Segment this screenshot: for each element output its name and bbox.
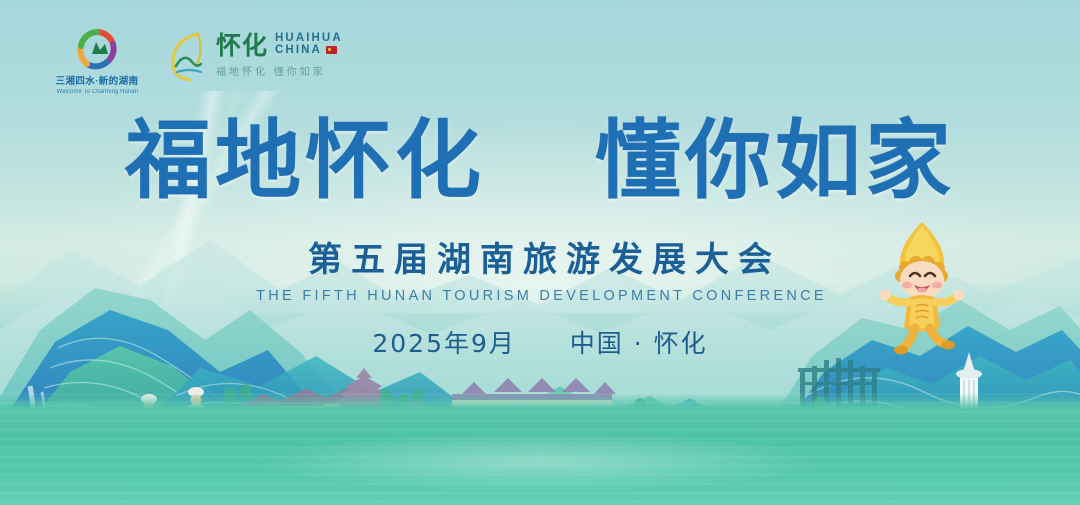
huaihua-china-logo: 怀化 HUAIHUA CHINA 福地怀化 懂你如家 [168,28,343,82]
hunan-logo-chinese: 三湘四水·新的湖南 [56,73,139,87]
conference-poster: 三湘四水·新的湖南 Welcome To Charming Hunan 怀化 H… [0,0,1080,505]
page-title: 福地怀化 懂你如家 [0,118,1080,204]
huaihua-leaf-icon [168,28,208,82]
china-flag-icon [326,46,337,54]
conference-name-chinese: 第五届湖南旅游发展大会 [0,243,1080,277]
huaihua-logo-english-1: HUAIHUA [275,32,343,44]
headline-part-2: 懂你如家 [595,111,955,211]
logo-bar: 三湘四水·新的湖南 Welcome To Charming Hunan 怀化 H… [52,28,343,95]
event-location: 中国 · 怀化 [570,329,708,358]
conference-name-english: THE FIFTH HUNAN TOURISM DEVELOPMENT CONF… [0,288,1080,304]
hunan-swirl-icon [66,28,128,70]
event-date: 2025年9月 [372,329,516,358]
hunan-tourism-logo: 三湘四水·新的湖南 Welcome To Charming Hunan [52,28,142,95]
huaihua-logo-english-2: CHINA [275,44,322,56]
event-meta: 2025年9月 中国 · 怀化 [0,324,1080,360]
huaihua-logo-chinese: 怀化 [216,33,268,58]
hunan-logo-english: Welcome To Charming Hunan [56,89,137,95]
headline-part-1: 福地怀化 [125,111,485,211]
huaihua-logo-slogan: 福地怀化 懂你如家 [216,63,343,78]
water-reflection [194,427,885,497]
